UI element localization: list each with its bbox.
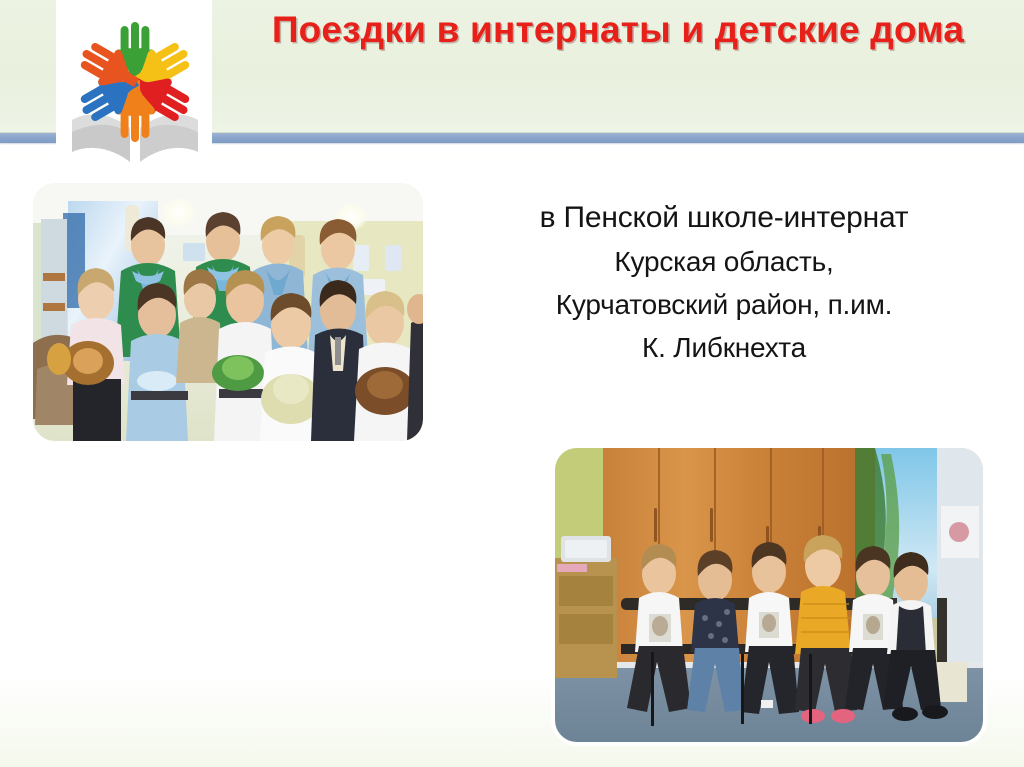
- photo-children-with-volunteers-image: [33, 183, 423, 441]
- caption-line-3: Курчатовский район, п.им.: [436, 283, 1012, 326]
- photo-children-on-bench-image: [555, 448, 983, 742]
- accent-rule-right: [212, 133, 1024, 143]
- photo-children-with-volunteers: [33, 183, 423, 441]
- photo-children-on-bench: [555, 448, 983, 742]
- caption-line-4: К. Либкнехта: [436, 326, 1012, 369]
- hands-circle-over-open-book-logo: [60, 2, 210, 170]
- caption-line-2: Курская область,: [436, 240, 1012, 283]
- caption-line-1: в Пенской школе-интернат: [436, 196, 1012, 240]
- slide-title-text: Поездки в интернаты и детские дома: [272, 9, 964, 50]
- slide-title: Поездки в интернаты и детские дома: [218, 4, 1018, 56]
- presentation-slide: Поездки в интернаты и детские дома: [0, 0, 1024, 767]
- accent-rule-left: [0, 133, 56, 143]
- caption-block: в Пенской школе-интернат Курская область…: [436, 196, 1012, 369]
